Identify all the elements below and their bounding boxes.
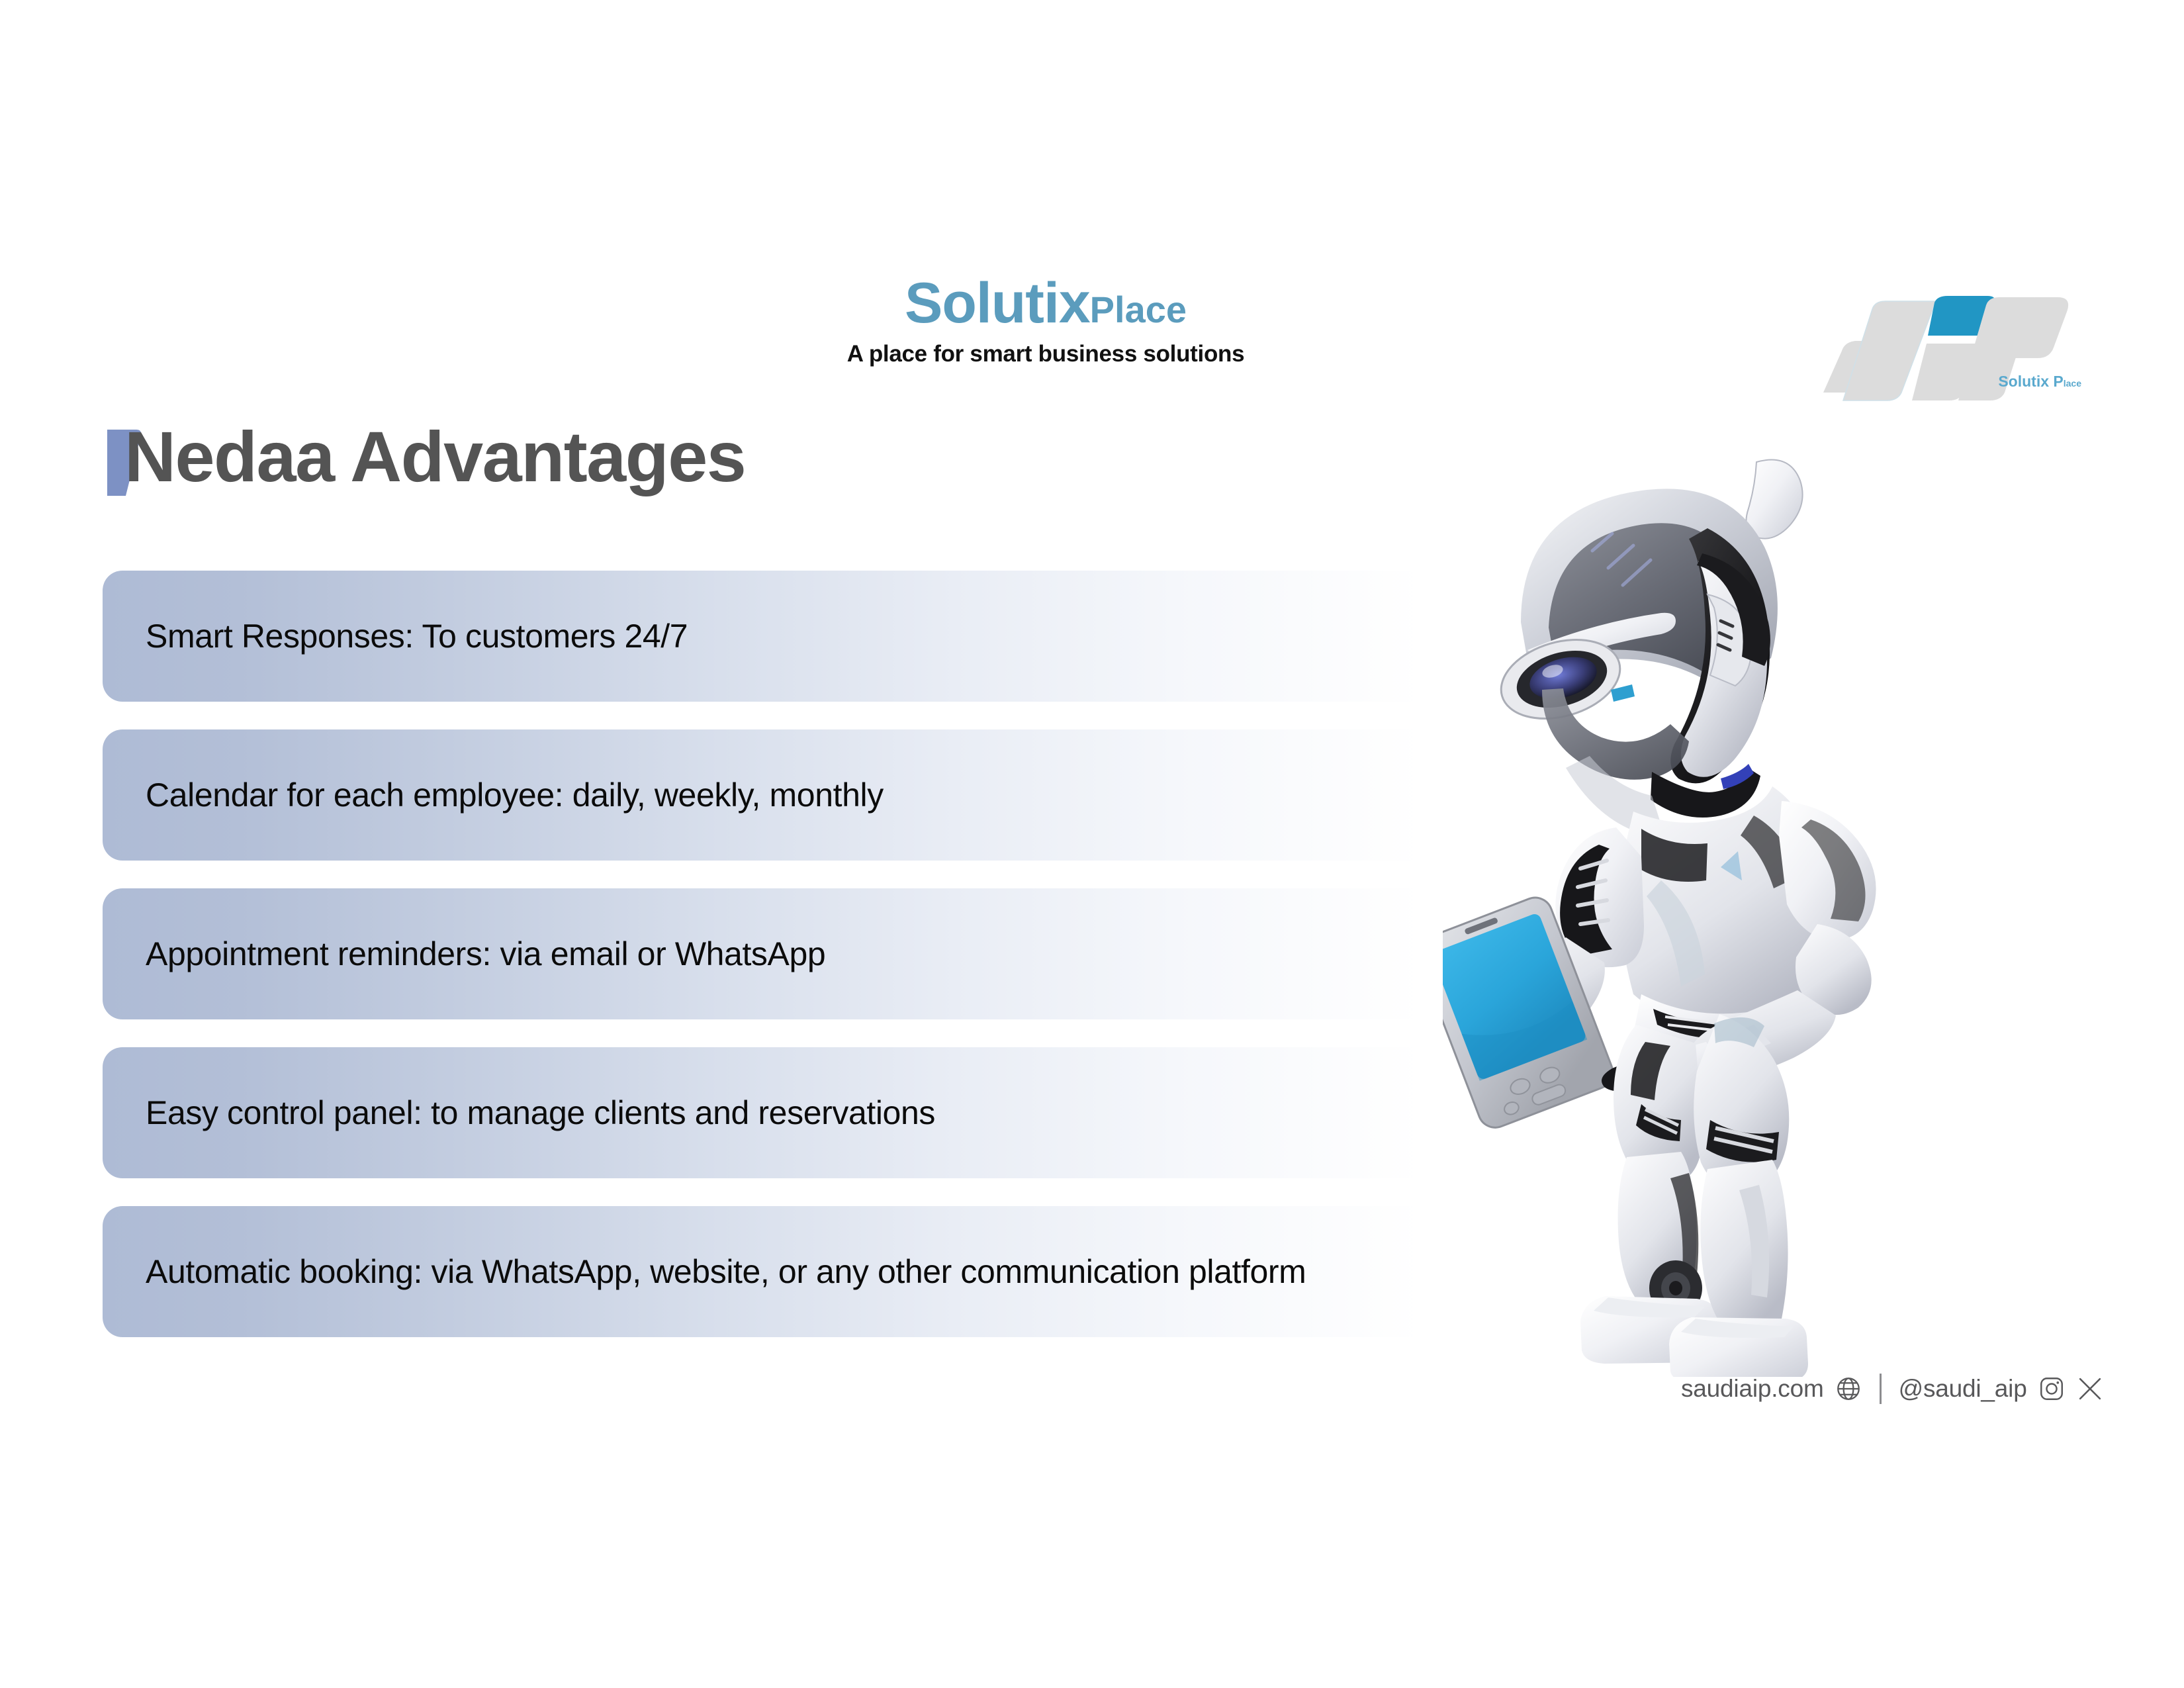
- page-title-row: Nedaa Advantages: [106, 414, 745, 500]
- aip-logo-caption-main: Solutix P: [1998, 373, 2063, 390]
- brand-wordmark-main: Solutix: [905, 271, 1090, 335]
- list-item-label: Smart Responses: To customers 24/7: [103, 617, 688, 655]
- advantages-list: Smart Responses: To customers 24/7 Calen…: [103, 571, 2088, 1337]
- list-item[interactable]: Appointment reminders: via email or What…: [103, 888, 1476, 1019]
- x-twitter-icon[interactable]: [2076, 1375, 2104, 1403]
- footer-handle[interactable]: @saudi_aip: [1899, 1375, 2027, 1403]
- aip-logo-mark: [1817, 281, 2081, 414]
- list-item[interactable]: Automatic booking: via WhatsApp, website…: [103, 1206, 1476, 1337]
- slide-canvas: SolutixPlace A place for smart business …: [0, 0, 2184, 1688]
- instagram-icon[interactable]: [2038, 1375, 2066, 1403]
- footer-website[interactable]: saudiaip.com: [1681, 1375, 1824, 1403]
- page-title: Nedaa Advantages: [124, 421, 745, 492]
- brand-wordmark-sub: Place: [1090, 289, 1187, 330]
- brand-header: SolutixPlace A place for smart business …: [781, 275, 1310, 367]
- aip-logo-caption-tiny: lace: [2064, 378, 2081, 389]
- list-item-label: Calendar for each employee: daily, weekl…: [103, 776, 884, 814]
- aip-logo-caption: Solutix Place: [1817, 373, 2081, 391]
- list-item[interactable]: Easy control panel: to manage clients an…: [103, 1047, 1476, 1178]
- list-item[interactable]: Calendar for each employee: daily, weekl…: [103, 729, 1476, 861]
- brand-wordmark: SolutixPlace: [781, 275, 1310, 332]
- footer: saudiaip.com @saudi_aip: [1681, 1374, 2104, 1404]
- brand-tagline: A place for smart business solutions: [781, 341, 1310, 367]
- globe-icon: [1835, 1375, 1862, 1403]
- footer-divider: [1880, 1374, 1882, 1404]
- list-item-label: Easy control panel: to manage clients an…: [103, 1094, 935, 1132]
- list-item-label: Automatic booking: via WhatsApp, website…: [103, 1252, 1306, 1291]
- aip-logo: Solutix Place: [1817, 281, 2081, 414]
- list-item-label: Appointment reminders: via email or What…: [103, 935, 825, 973]
- list-item[interactable]: Smart Responses: To customers 24/7: [103, 571, 1476, 702]
